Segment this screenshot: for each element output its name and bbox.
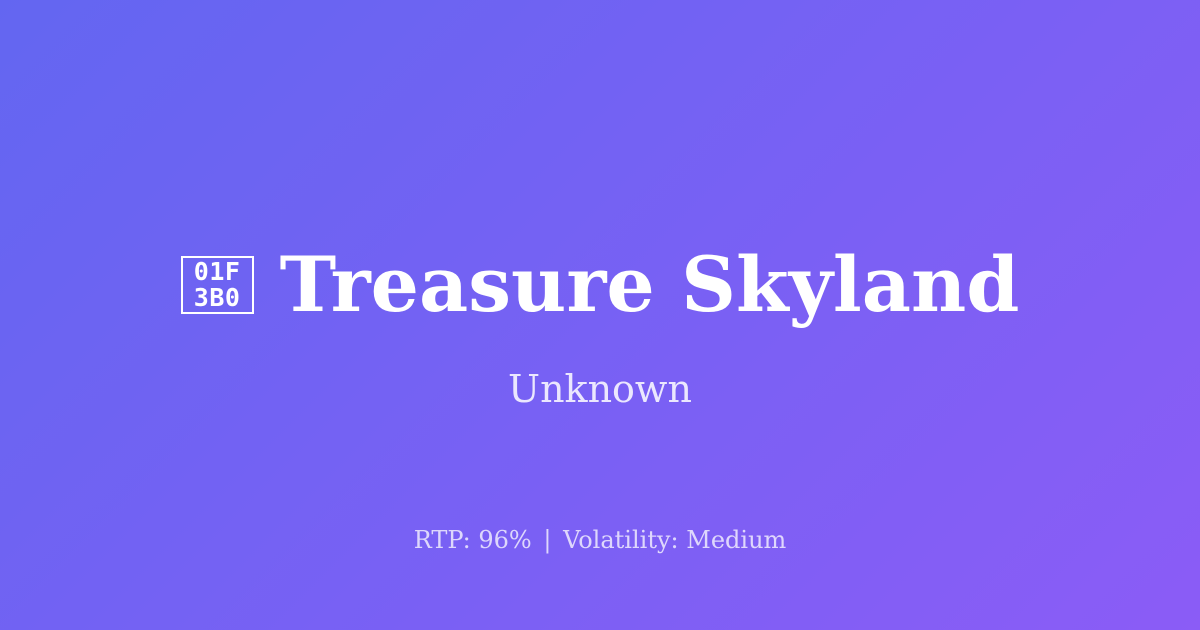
meta-separator: | (539, 526, 555, 554)
tofu-codepoint-bottom: 3B0 (194, 285, 241, 311)
page-title: Treasure Skyland (280, 245, 1020, 325)
open-graph-card: 01F 3B0 Treasure Skyland Unknown RTP: 96… (0, 0, 1200, 630)
title-row: 01F 3B0 Treasure Skyland (181, 245, 1020, 325)
volatility-label: Volatility: Medium (563, 526, 786, 554)
rtp-label: RTP: 96% (414, 526, 532, 554)
tofu-codepoint-top: 01F (194, 259, 241, 285)
game-meta-line: RTP: 96% | Volatility: Medium (0, 526, 1200, 555)
game-provider-subtitle: Unknown (508, 369, 692, 411)
slot-machine-emoji-icon: 01F 3B0 (181, 256, 254, 314)
